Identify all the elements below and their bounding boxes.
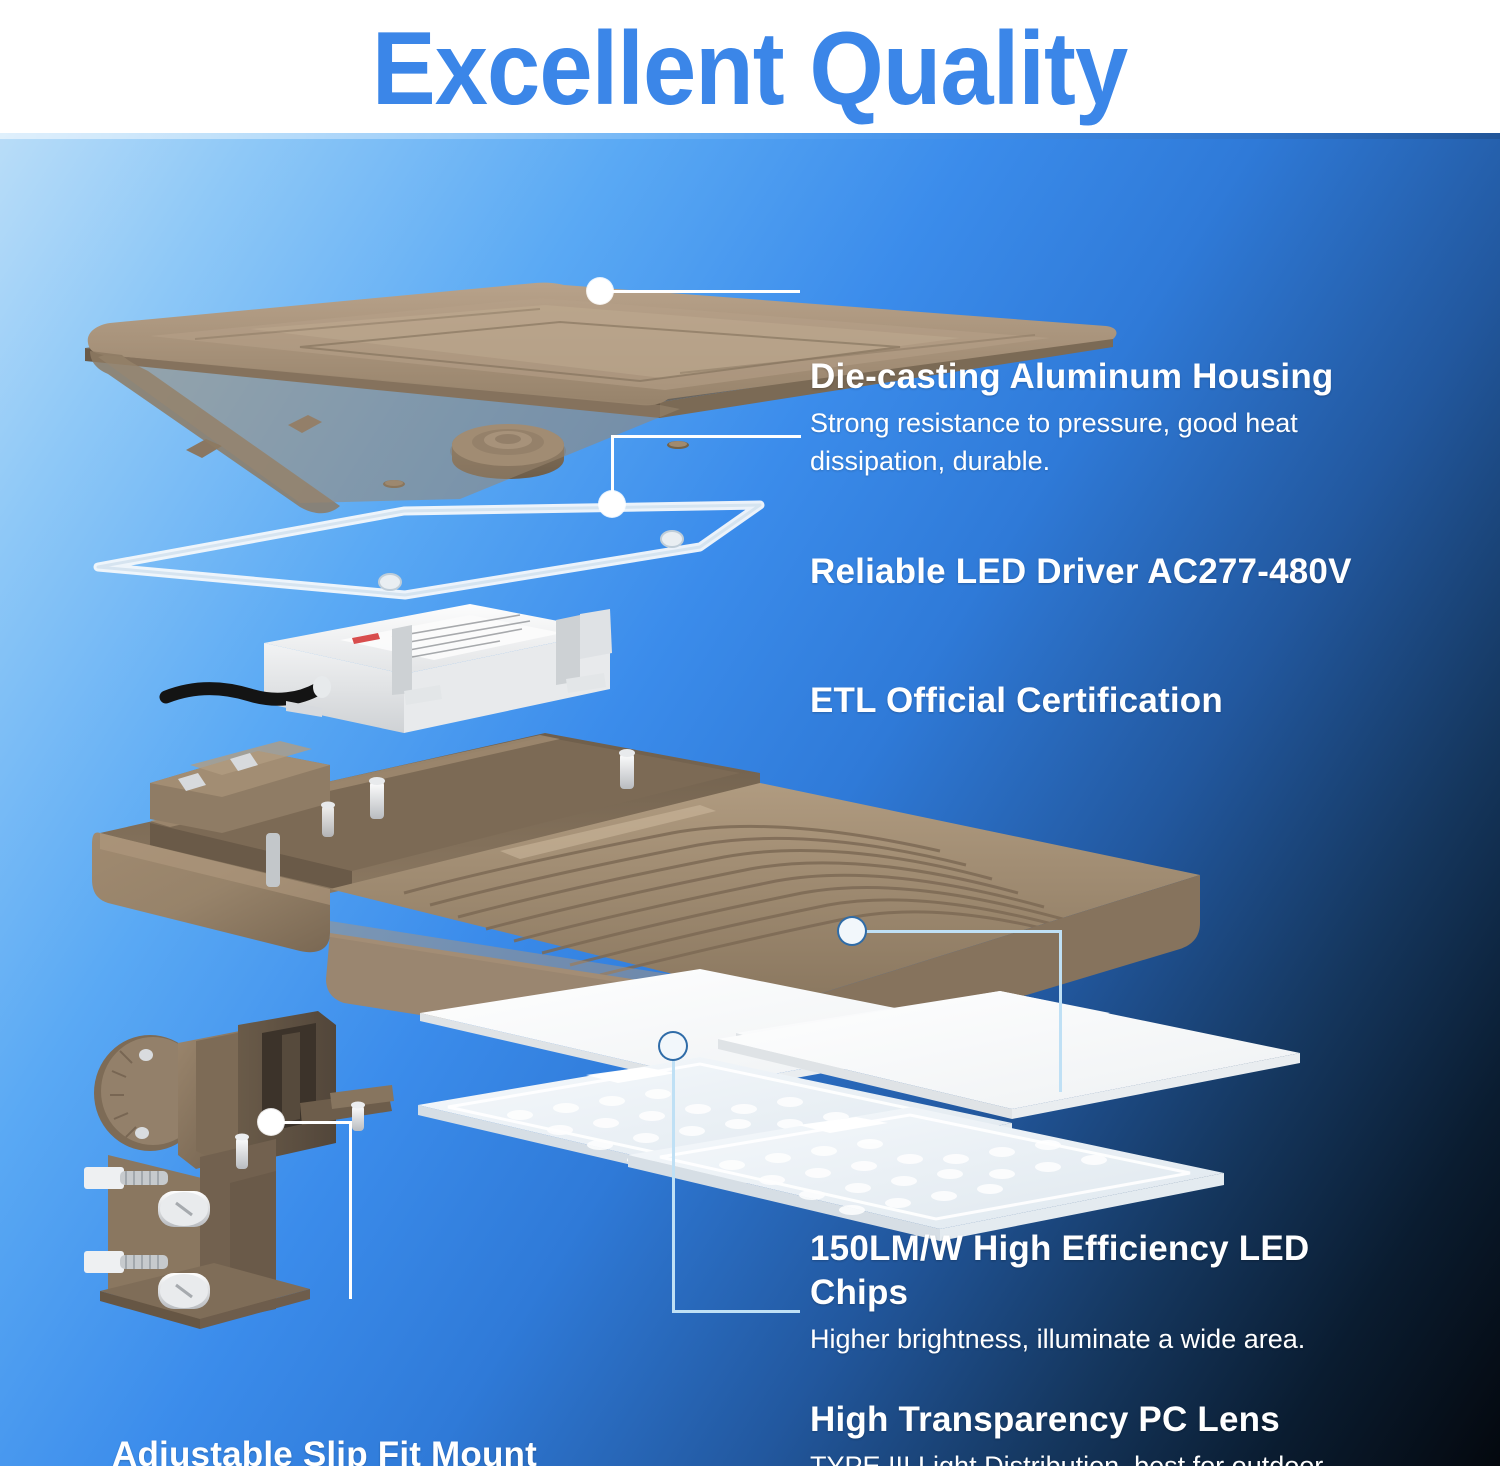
product-feature-infographic: Excellent Quality [0, 0, 1500, 1466]
callout-title: ETL Official Certification [810, 679, 1223, 723]
callout-title: Die-casting Aluminum Housing [810, 355, 1334, 399]
page-title: Excellent Quality [372, 17, 1127, 121]
callout-title: Adjustable Slip Fit Mount [112, 1433, 659, 1466]
callout-reliable-led-driver: Reliable LED Driver AC277-480V [810, 550, 1352, 594]
silicone-gasket-frame [98, 505, 760, 595]
callout-title: 150LM/W High Efficiency LED Chips [810, 1227, 1330, 1315]
callout-title: High Transparency PC Lens [810, 1398, 1390, 1442]
callout-pc-lens: High Transparency PC Lens TYPE III Light… [810, 1398, 1390, 1466]
header-banner: Excellent Quality [0, 0, 1500, 133]
callout-title: Reliable LED Driver AC277-480V [810, 550, 1352, 594]
led-driver-module [166, 604, 612, 733]
callout-slip-fit-mount: Adjustable Slip Fit Mount Safe and stabl… [112, 1433, 659, 1466]
callout-led-chips: 150LM/W High Efficiency LED Chips Higher… [810, 1227, 1330, 1358]
product-stage: Die-casting Aluminum Housing Strong resi… [0, 133, 1500, 1466]
callout-die-casting-aluminum-housing: Die-casting Aluminum Housing Strong resi… [810, 355, 1334, 480]
adjustable-slip-fit-mount [84, 1011, 394, 1329]
callout-description: Higher brightness, illuminate a wide are… [810, 1320, 1330, 1358]
callout-description: Strong resistance to pressure, good heat… [810, 404, 1330, 480]
callout-description: TYPE III Light Distribution, best for ou… [810, 1447, 1355, 1466]
callout-etl-certification: ETL Official Certification [810, 679, 1223, 723]
